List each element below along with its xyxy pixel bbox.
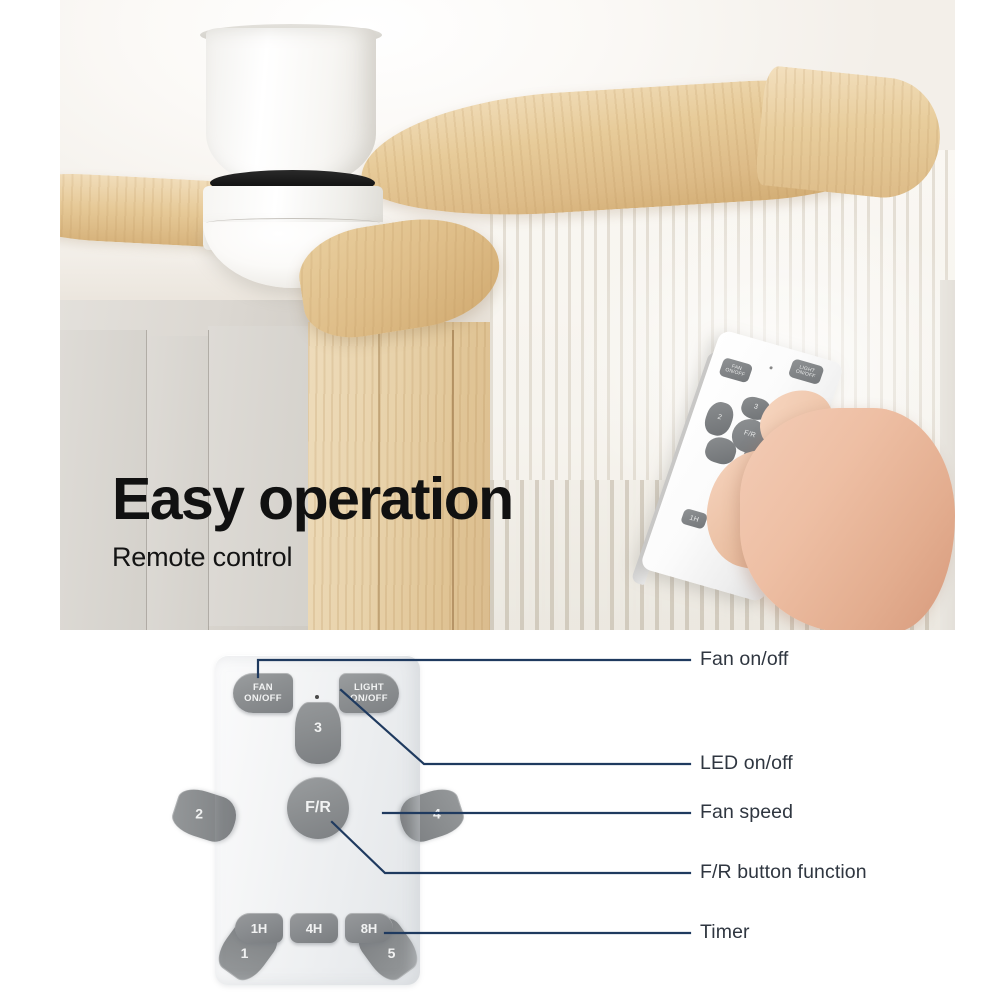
headline-block: Easy operation Remote control	[112, 470, 672, 573]
callout-line-led	[341, 690, 690, 764]
light-dome-seam	[206, 218, 380, 228]
callout-label-fan-speed: Fan speed	[700, 801, 793, 824]
callout-label-led-on-off: LED on/off	[700, 752, 793, 775]
callout-label-timer: Timer	[700, 921, 750, 944]
product-feature-page: FANON/OFF LIGHTON/OFF 3 4 2 F/R 1H 4H	[0, 0, 1000, 1000]
hero-photo: FANON/OFF LIGHTON/OFF 3 4 2 F/R 1H 4H	[60, 0, 955, 630]
page-title: Easy operation	[112, 470, 672, 529]
callout-label-fr-button: F/R button function	[700, 861, 867, 884]
callout-line-fan	[258, 660, 690, 677]
remote-diagram-panel: FAN ON/OFF LIGHT ON/OFF 3 4 5 1 2 F/R 1H…	[0, 630, 1000, 1000]
callout-line-fr	[332, 822, 690, 873]
page-subtitle: Remote control	[112, 542, 672, 573]
photo-ir-dot	[769, 366, 773, 370]
callout-label-fan-on-off: Fan on/off	[700, 648, 788, 671]
callout-lines	[0, 630, 1000, 1000]
palm	[740, 408, 955, 630]
fan-motor-housing-upper	[206, 28, 376, 188]
ceiling-fan	[60, 10, 700, 330]
